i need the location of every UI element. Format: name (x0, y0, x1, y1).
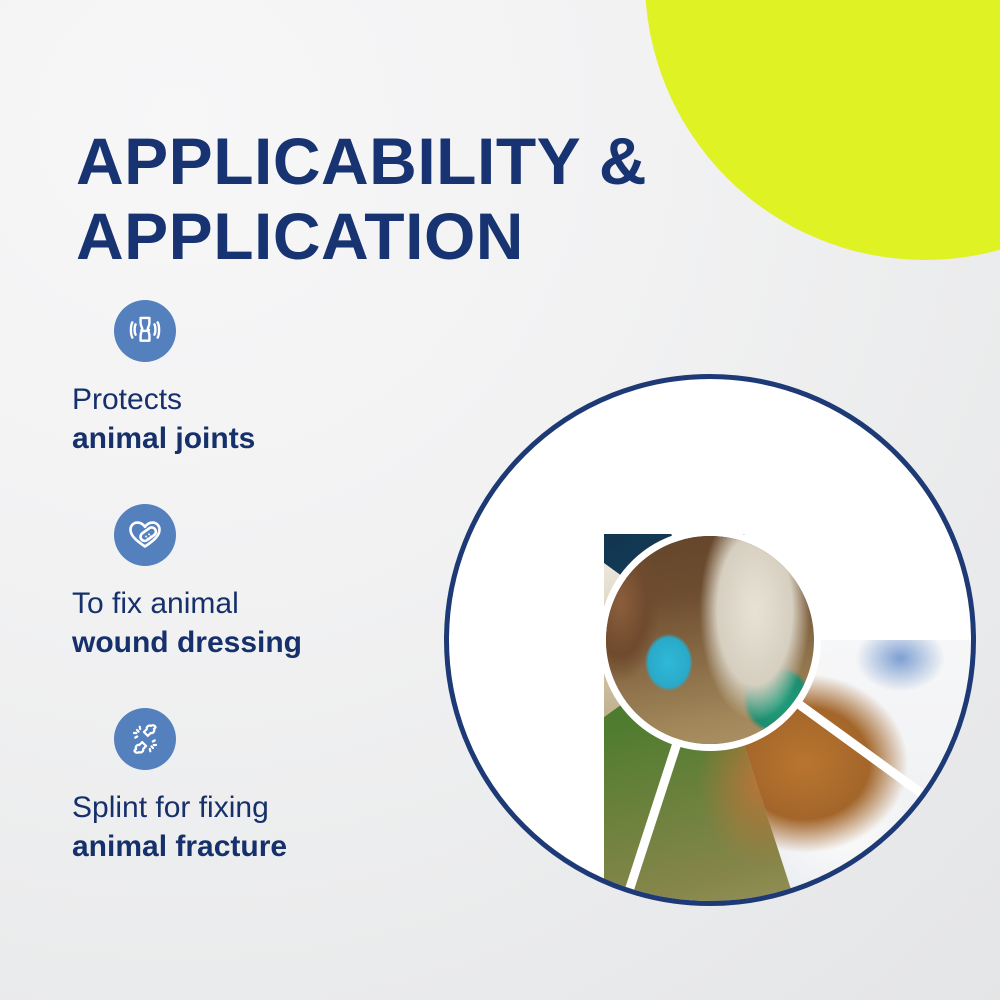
bone-joint-icon (114, 300, 176, 362)
feature-item-text: Protects animal joints (72, 380, 432, 458)
horse-leg-bandaging-photo (599, 529, 821, 751)
feature-line-2: animal fracture (72, 827, 432, 866)
photo-collage (444, 374, 976, 906)
feature-line-1: To fix animal (72, 584, 432, 623)
page-title-line-2: Application (76, 199, 716, 274)
page-title: Applicability & Application (76, 124, 716, 274)
collage-inner (449, 379, 971, 901)
feature-item-text: Splint for fixing animal fracture (72, 788, 432, 866)
feature-line-2: animal joints (72, 419, 432, 458)
feature-item-wound-dressing: To fix animal wound dressing (72, 504, 432, 662)
feature-line-1: Protects (72, 380, 432, 419)
page-title-line-1: Applicability & (76, 124, 716, 199)
collage-center-photo (599, 529, 821, 751)
heart-bandage-icon (114, 504, 176, 566)
feature-line-1: Splint for fixing (72, 788, 432, 827)
broken-bone-icon (114, 708, 176, 770)
applicability-application-slide: Applicability & Application Prote (0, 0, 1000, 1000)
feature-line-2: wound dressing (72, 623, 432, 662)
feature-item-splint-fracture: Splint for fixing animal fracture (72, 708, 432, 866)
feature-item-text: To fix animal wound dressing (72, 584, 432, 662)
feature-list: Protects animal joints To f (72, 300, 432, 866)
feature-item-protects-joints: Protects animal joints (72, 300, 432, 458)
